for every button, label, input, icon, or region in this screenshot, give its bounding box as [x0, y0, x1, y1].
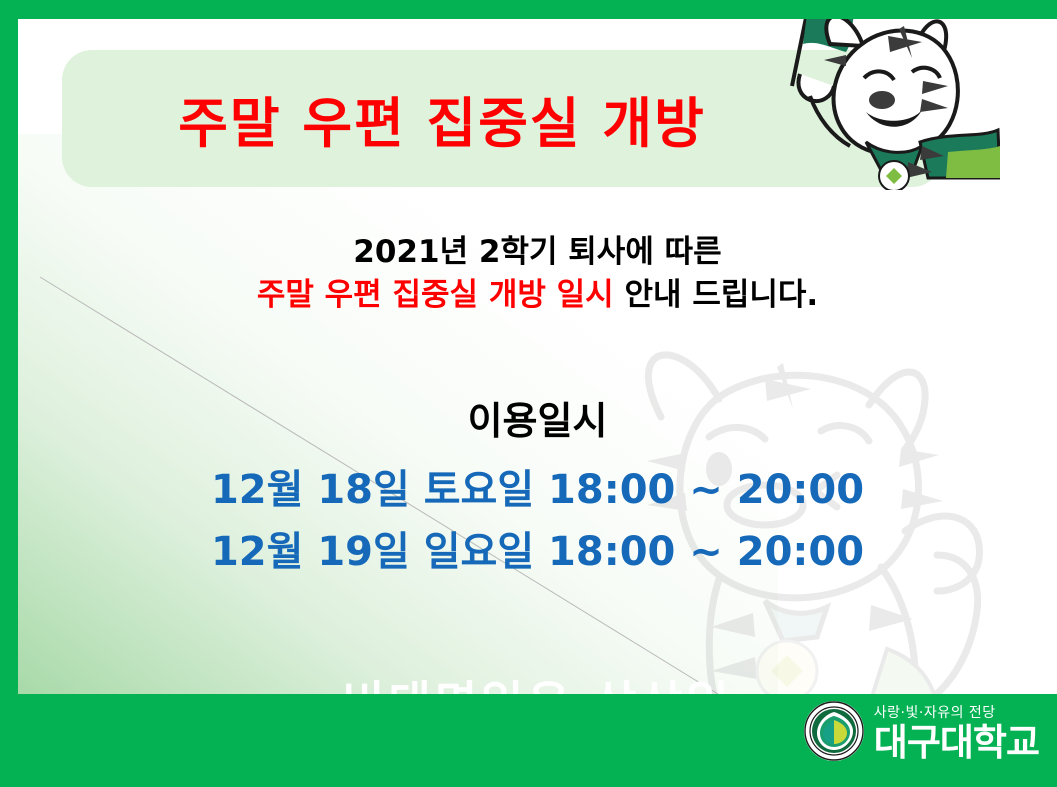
poster-canvas: 주말 우편 집중실 개방: [18, 19, 1057, 694]
daegu-university-emblem-icon: [803, 700, 865, 762]
logo-university-name: 대구대학교: [874, 724, 1039, 761]
usage-heading: 이용일시: [18, 390, 1057, 445]
slogan-text: 비대면일은 상상일: [18, 667, 1057, 694]
intro-tail: 안내 드립니다.: [614, 277, 818, 313]
poster-title: 주말 우편 집중실 개방: [62, 50, 822, 187]
schedule-line-sunday: 12월 19일 일요일 18:00 ~ 20:00: [18, 521, 1057, 583]
footer-band: 사랑·빛·자유의 전당 대구대학교: [0, 694, 1057, 787]
intro-highlight: 주말 우편 집중실 개방 일시: [257, 277, 614, 313]
white-tiger-mascot-icon: [770, 19, 1000, 190]
schedule-line-saturday: 12월 18일 토요일 18:00 ~ 20:00: [18, 459, 1057, 521]
intro-line-1: 2021년 2학기 퇴사에 따른: [18, 231, 1057, 274]
poster: 주말 우편 집중실 개방: [0, 0, 1057, 787]
logo-tagline: 사랑·빛·자유의 전당: [874, 702, 1039, 722]
intro-line-2: 주말 우편 집중실 개방 일시 안내 드립니다.: [18, 274, 1057, 317]
university-logo: 사랑·빛·자유의 전당 대구대학교: [803, 700, 1039, 762]
intro-block: 2021년 2학기 퇴사에 따른 주말 우편 집중실 개방 일시 안내 드립니다…: [18, 231, 1057, 317]
schedule-block: 12월 18일 토요일 18:00 ~ 20:00 12월 19일 일요일 18…: [18, 459, 1057, 583]
logo-text-block: 사랑·빛·자유의 전당 대구대학교: [874, 702, 1039, 761]
